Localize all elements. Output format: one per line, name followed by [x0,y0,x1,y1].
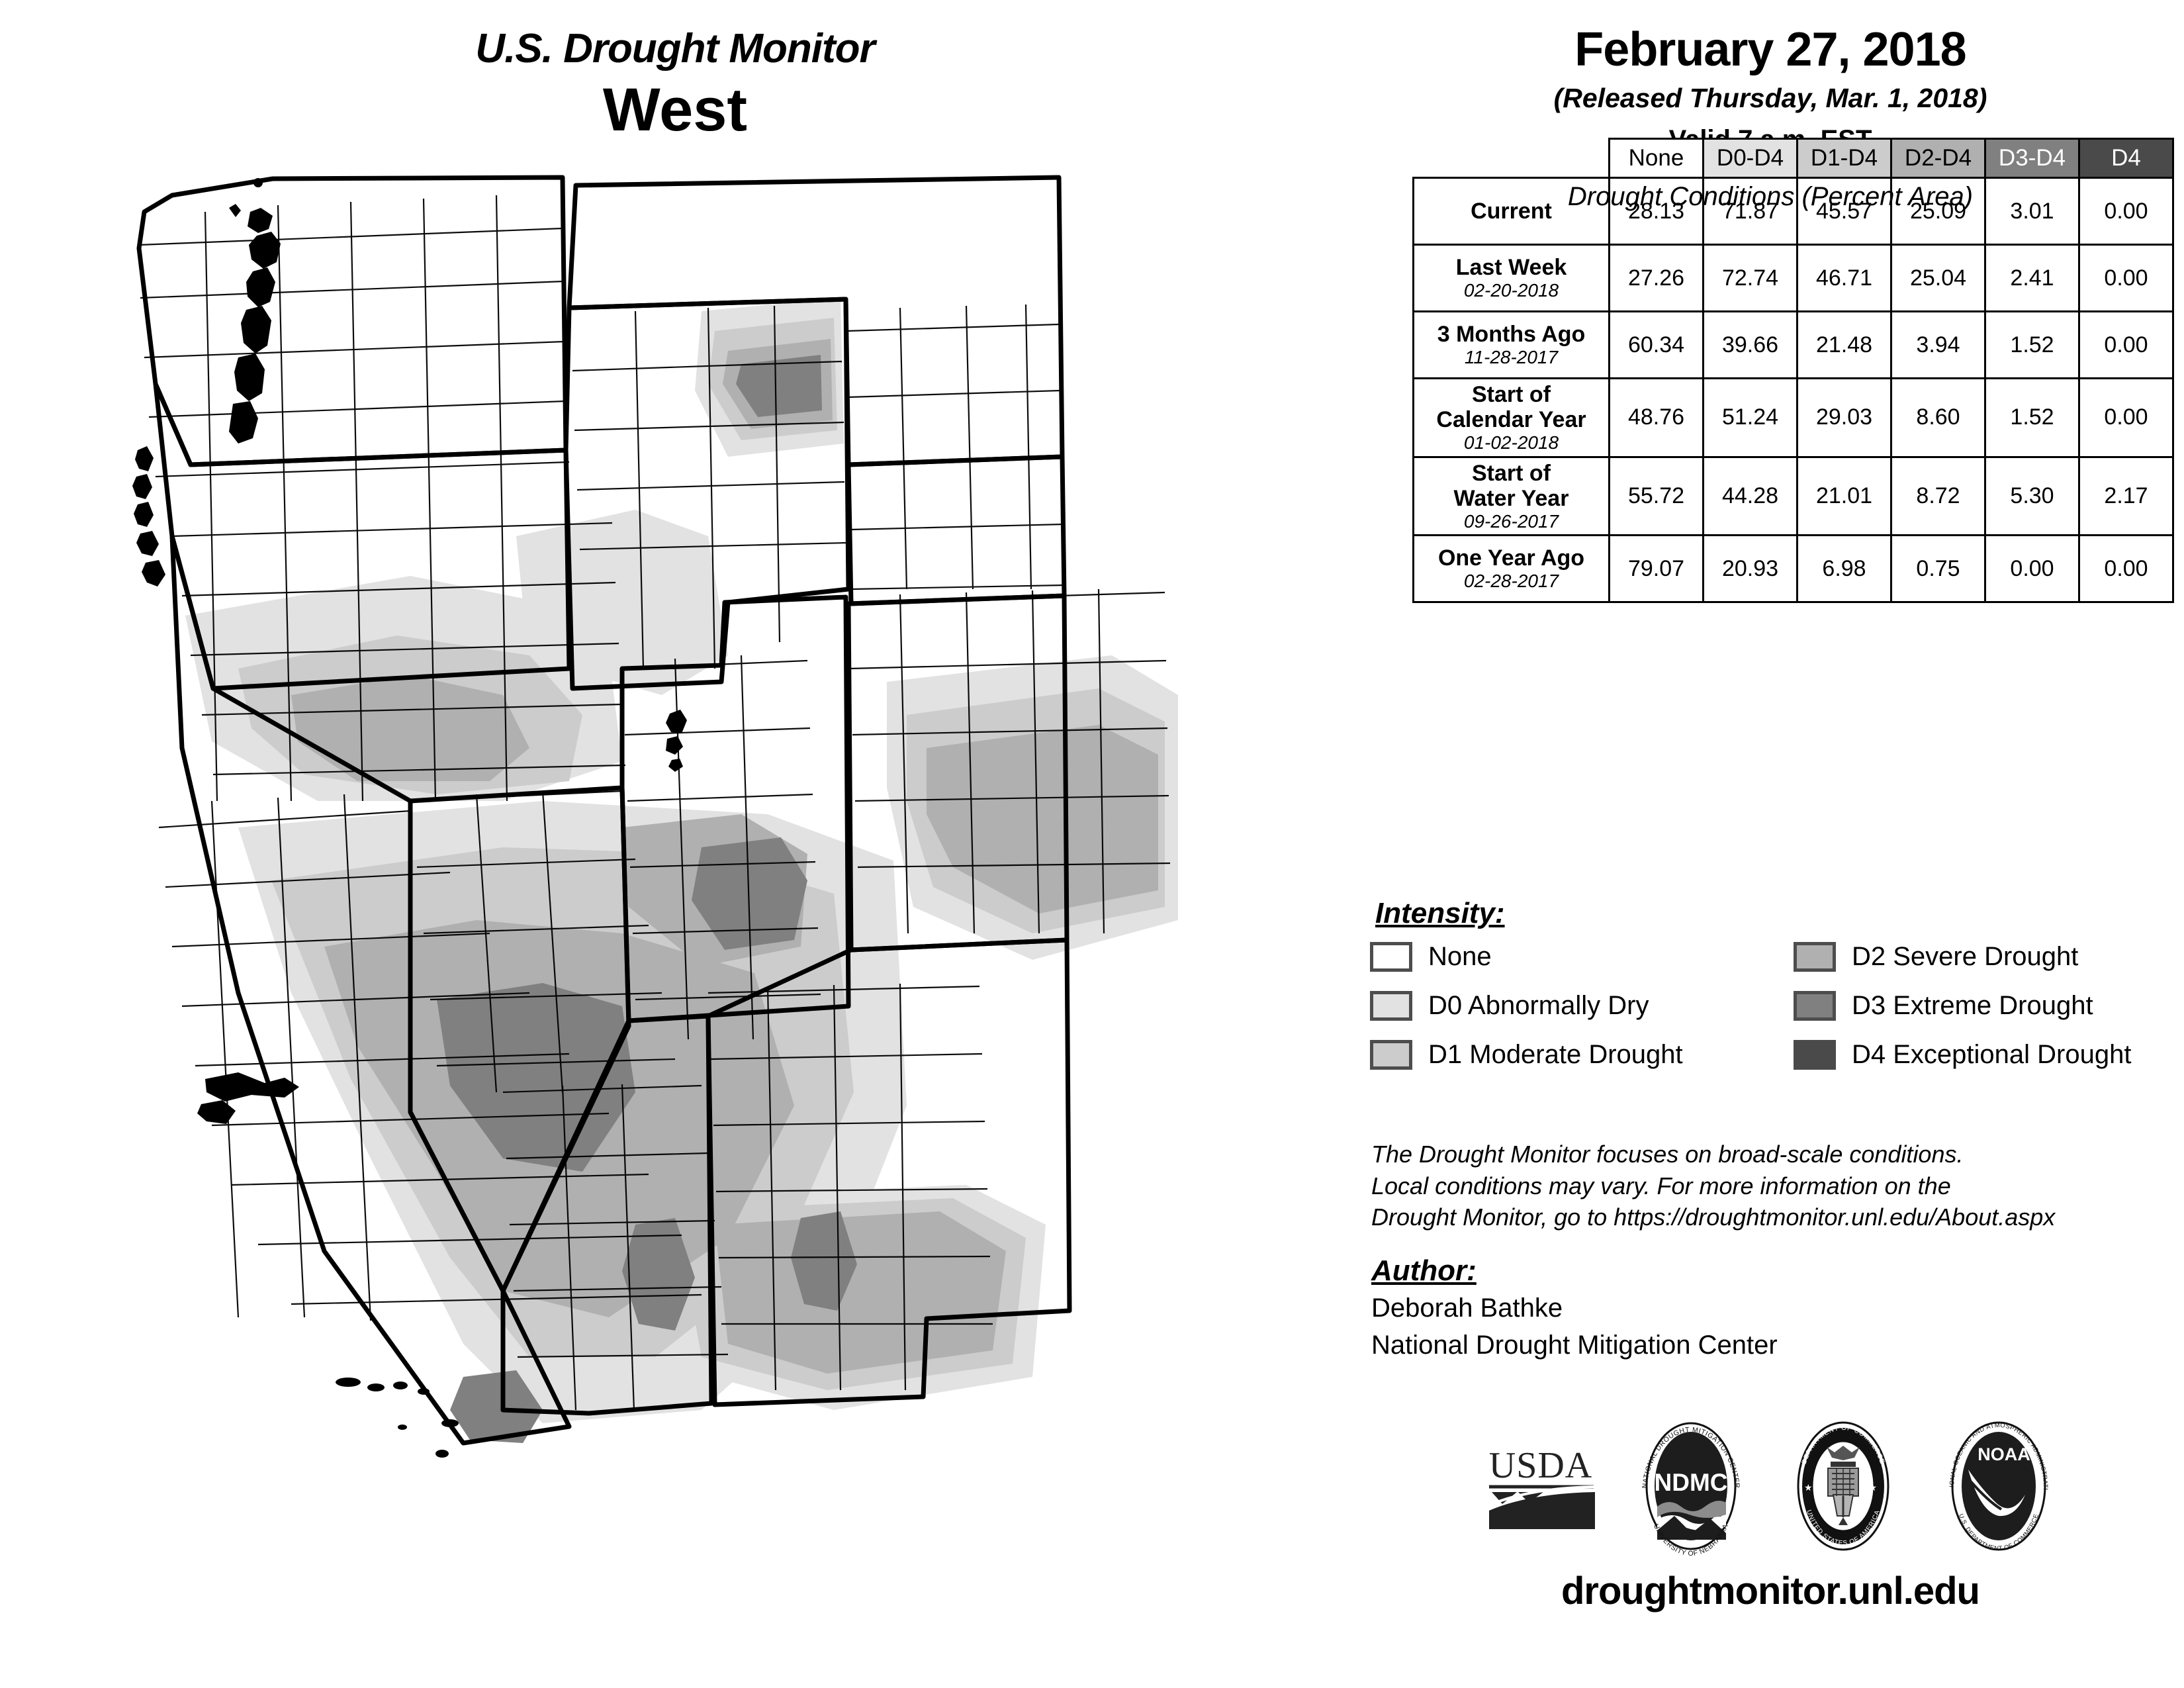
legend-item-d4: D4 Exceptional Drought [1794,1039,2184,1071]
disclaimer-line-1: The Drought Monitor focuses on broad-sca… [1371,1139,2179,1170]
row-label-title: Last Week [1418,255,1604,280]
region-title: West [0,77,1350,144]
table-cell-d4: 0.00 [2079,536,2173,602]
column-header-d3-d4: D3-D4 [1985,139,2079,178]
table-cell-d3-d4: 0.00 [1985,536,2079,602]
column-header-none: None [1610,139,1704,178]
row-label-date: 02-20-2018 [1418,280,1604,301]
table-cell-d3-d4: 1.52 [1985,379,2079,457]
disclaimer-line-2: Local conditions may vary. For more info… [1371,1170,2179,1202]
legend-swatch-d0 [1370,991,1412,1021]
table-cell-d1-d4: 6.98 [1797,536,1891,602]
table-row: 3 Months Ago11-28-201760.3439.6621.483.9… [1414,312,2173,379]
info-panel: February 27, 2018 (Released Thursday, Ma… [1357,0,2184,1688]
table-cell-d4: 0.00 [2079,312,2173,379]
table-cell-d3-d4: 1.52 [1985,312,2079,379]
row-label-title: One Year Ago [1418,545,1604,571]
svg-text:NOAA: NOAA [1978,1444,2030,1464]
table-cell-d1-d4: 45.57 [1797,178,1891,245]
svg-text:NDMC: NDMC [1655,1469,1728,1496]
svg-text:★: ★ [1804,1482,1813,1493]
column-header-d1-d4: D1-D4 [1797,139,1891,178]
column-header-d4: D4 [2079,139,2173,178]
table-cell-d1-d4: 29.03 [1797,379,1891,457]
table-cell-d1-d4: 21.48 [1797,312,1891,379]
table-cell-d0-d4: 44.28 [1704,457,1797,536]
legend-swatch-none [1370,942,1412,972]
table-cell-d1-d4: 46.71 [1797,245,1891,312]
svg-text:★: ★ [1868,1482,1877,1493]
drought-map[interactable] [40,165,1337,1575]
row-label: Last Week02-20-2018 [1414,245,1610,312]
table-cell-d4: 0.00 [2079,178,2173,245]
table-cell-d3-d4: 5.30 [1985,457,2079,536]
table-cell-d4: 0.00 [2079,245,2173,312]
table-cell-d1-d4: 21.01 [1797,457,1891,536]
author-label: Author: [1371,1254,2165,1288]
table-cell-d2-d4: 25.04 [1891,245,1985,312]
legend-item-d2: D2 Severe Drought [1794,941,2184,973]
column-header-d2-d4: D2-D4 [1891,139,1985,178]
legend-label-d0: D0 Abnormally Dry [1428,991,1649,1021]
row-label: Start ofCalendar Year01-02-2018 [1414,379,1610,457]
table-cell-d4: 0.00 [2079,379,2173,457]
table-row: Start ofWater Year09-26-201755.7244.2821… [1414,457,2173,536]
table-cell-d0-d4: 39.66 [1704,312,1797,379]
table-cell-d2-d4: 25.09 [1891,178,1985,245]
noaa-logo: NOAA NATIONAL OCEANIC AND ATMOSPHERIC AD… [1933,1417,2065,1559]
legend-swatch-d2 [1794,942,1836,972]
header-corner-spacer [1414,139,1610,178]
row-label-title: Start ofCalendar Year [1418,382,1604,432]
legend-item-d0: D0 Abnormally Dry [1370,990,1794,1022]
table-cell-none: 55.72 [1610,457,1704,536]
row-label-title: 3 Months Ago [1418,322,1604,347]
table-cell-none: 60.34 [1610,312,1704,379]
author-name: Deborah Bathke [1371,1291,2165,1325]
legend-label-none: None [1428,942,1492,972]
row-label: Current [1414,178,1610,245]
department-of-commerce-seal: DEPARTMENT OF COMMERCE UNITED STATES OF … [1780,1417,1906,1559]
website-url[interactable]: droughtmonitor.unl.edu [1357,1569,2184,1613]
ndmc-logo: NDMC NATIONAL DROUGHT MITIGATION CENTER … [1628,1417,1754,1559]
column-header-d0-d4: D0-D4 [1704,139,1797,178]
table-row: One Year Ago02-28-201779.0720.936.980.75… [1414,536,2173,602]
table-header-row: None D0-D4 D1-D4 D2-D4 D3-D4 D4 [1414,139,2173,178]
table-cell-d3-d4: 3.01 [1985,178,2079,245]
table-cell-d3-d4: 2.41 [1985,245,2079,312]
table-cell-d0-d4: 71.87 [1704,178,1797,245]
disclaimer-line-3: Drought Monitor, go to https://droughtmo… [1371,1201,2179,1233]
row-label-title: Start ofWater Year [1418,461,1604,511]
logo-row: USDA NDMC NAT [1363,1417,2184,1559]
table-cell-d4: 2.17 [2079,457,2173,536]
row-label-date: 01-02-2018 [1418,432,1604,453]
row-label-date: 02-28-2017 [1418,571,1604,591]
svg-text:USDA: USDA [1489,1445,1592,1486]
table-cell-none: 48.76 [1610,379,1704,457]
drought-conditions-table: None D0-D4 D1-D4 D2-D4 D3-D4 D4 Current2… [1412,138,2174,603]
legend-item-d1: D1 Moderate Drought [1370,1039,1794,1071]
usda-logo: USDA [1482,1436,1602,1539]
author-block: Author: Deborah Bathke National Drought … [1371,1254,2165,1362]
release-date: (Released Thursday, Mar. 1, 2018) [1357,83,2184,113]
legend-swatch-d4 [1794,1040,1836,1070]
intensity-legend-grid: NoneD2 Severe DroughtD0 Abnormally DryD3… [1370,941,2184,1071]
intensity-legend: Intensity: NoneD2 Severe DroughtD0 Abnor… [1370,897,2184,1071]
row-label-title: Current [1418,199,1604,224]
table-row: Current28.1371.8745.5725.093.010.00 [1414,178,2173,245]
row-label: 3 Months Ago11-28-2017 [1414,312,1610,379]
legend-item-d3: D3 Extreme Drought [1794,990,2184,1022]
author-affiliation: National Drought Mitigation Center [1371,1329,2165,1362]
table-row: Last Week02-20-201827.2672.7446.7125.042… [1414,245,2173,312]
legend-label-d1: D1 Moderate Drought [1428,1040,1683,1070]
disclaimer-text: The Drought Monitor focuses on broad-sca… [1371,1139,2179,1233]
legend-label-d4: D4 Exceptional Drought [1852,1040,2131,1070]
report-date: February 27, 2018 [1357,25,2184,75]
table-cell-d0-d4: 51.24 [1704,379,1797,457]
row-label: Start ofWater Year09-26-2017 [1414,457,1610,536]
table-cell-none: 28.13 [1610,178,1704,245]
table-cell-d2-d4: 0.75 [1891,536,1985,602]
row-label-date: 11-28-2017 [1418,347,1604,367]
table-cell-d2-d4: 8.72 [1891,457,1985,536]
row-label-date: 09-26-2017 [1418,511,1604,532]
table-cell-none: 79.07 [1610,536,1704,602]
intensity-legend-title: Intensity: [1375,897,2184,930]
page-title: U.S. Drought Monitor [0,26,1350,71]
row-label: One Year Ago02-28-2017 [1414,536,1610,602]
legend-swatch-d3 [1794,991,1836,1021]
table-cell-d2-d4: 3.94 [1891,312,1985,379]
table-cell-d0-d4: 20.93 [1704,536,1797,602]
table-row: Start ofCalendar Year01-02-201848.7651.2… [1414,379,2173,457]
legend-item-none: None [1370,941,1794,973]
legend-swatch-d1 [1370,1040,1412,1070]
legend-label-d2: D2 Severe Drought [1852,942,2078,972]
legend-label-d3: D3 Extreme Drought [1852,991,2093,1021]
map-title-block: U.S. Drought Monitor West [0,26,1350,144]
table-cell-none: 27.26 [1610,245,1704,312]
table-cell-d0-d4: 72.74 [1704,245,1797,312]
table-cell-d2-d4: 8.60 [1891,379,1985,457]
